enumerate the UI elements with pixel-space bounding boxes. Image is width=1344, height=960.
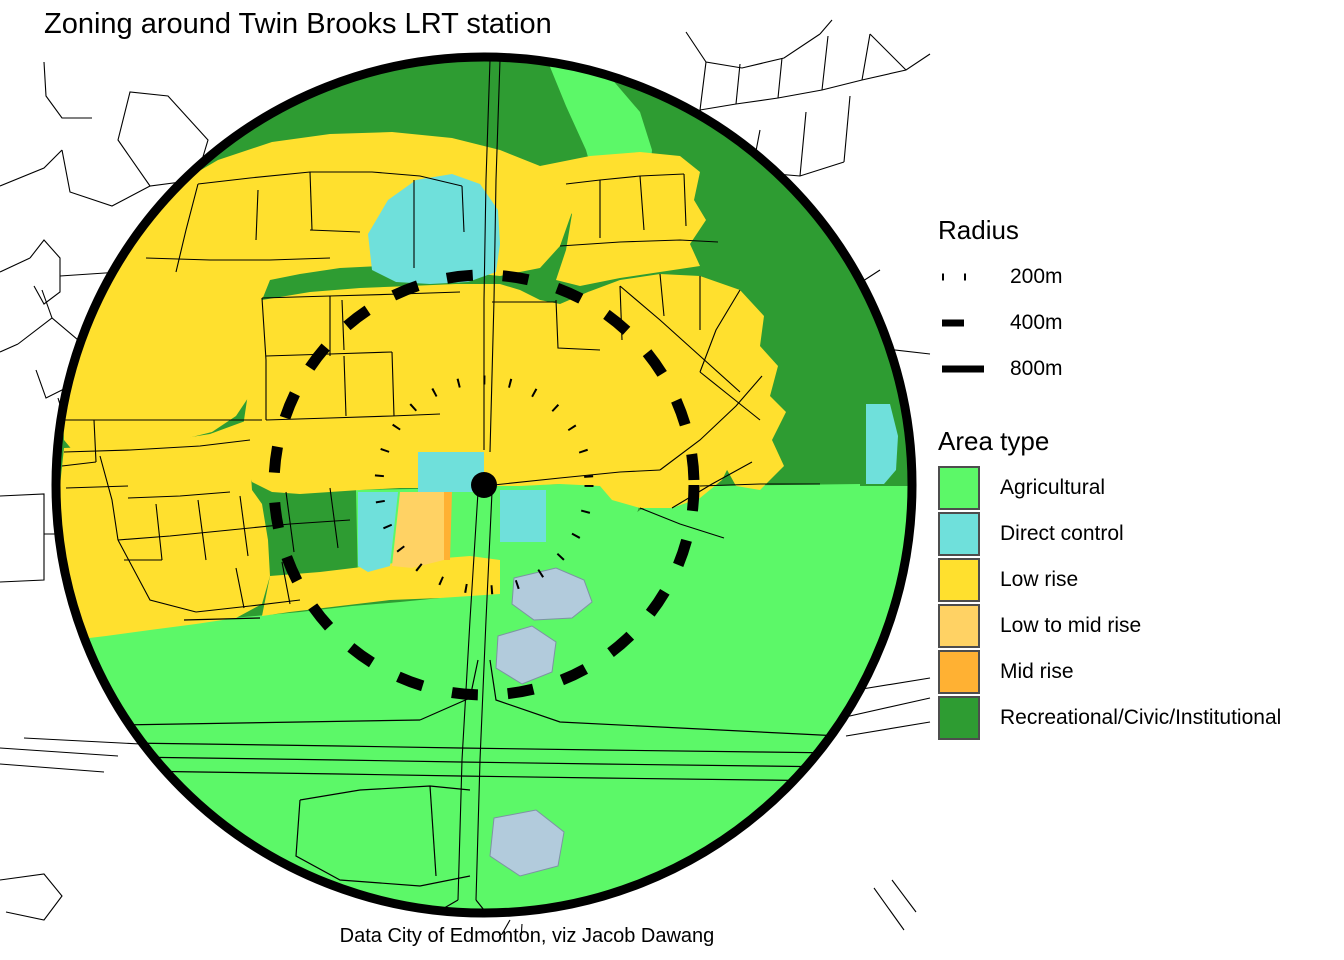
legend-radius-label-800m: 800m bbox=[1010, 357, 1063, 381]
legend-radius-label-200m: 200m bbox=[1010, 265, 1063, 289]
legend-area-label-agricultural: Agricultural bbox=[1000, 476, 1105, 500]
page-root: Zoning around Twin Brooks LRT station bbox=[0, 0, 1344, 960]
dashed-line-icon bbox=[938, 312, 988, 334]
legend-radius-item-800m[interactable]: 800m bbox=[938, 346, 1344, 392]
swatch-low-to-mid-rise bbox=[938, 604, 980, 648]
legend-radius-label-400m: 400m bbox=[1010, 311, 1063, 335]
legend-area-item-mid-rise[interactable]: Mid rise bbox=[938, 649, 1344, 695]
swatch-mid-rise bbox=[938, 650, 980, 694]
map-legend: Radius 200m 400m 800m bbox=[930, 215, 1344, 741]
zoning-map-svg[interactable] bbox=[0, 0, 960, 935]
legend-area-item-direct-control[interactable]: Direct control bbox=[938, 511, 1344, 557]
dotted-line-icon bbox=[938, 266, 988, 288]
legend-radius-item-400m[interactable]: 400m bbox=[938, 300, 1344, 346]
legend-area-item-low-to-mid-rise[interactable]: Low to mid rise bbox=[938, 603, 1344, 649]
legend-area-item-low-rise[interactable]: Low rise bbox=[938, 557, 1344, 603]
legend-area-label-low-to-mid-rise: Low to mid rise bbox=[1000, 614, 1141, 638]
legend-area-type-heading: Area type bbox=[938, 426, 1344, 457]
legend-area-label-low-rise: Low rise bbox=[1000, 568, 1078, 592]
source-caption-text: Data City of Edmonton, viz Jacob Dawang bbox=[340, 925, 715, 948]
legend-area-item-recreational[interactable]: Recreational/Civic/Institutional bbox=[938, 695, 1344, 741]
legend-area-item-agricultural[interactable]: Agricultural bbox=[938, 465, 1344, 511]
source-caption: Data City of Edmonton, viz Jacob Dawang bbox=[0, 925, 1344, 948]
solid-line-icon bbox=[938, 358, 988, 380]
swatch-low-rise bbox=[938, 558, 980, 602]
swatch-recreational bbox=[938, 696, 980, 740]
swatch-agricultural bbox=[938, 466, 980, 510]
legend-radius-heading: Radius bbox=[938, 215, 1344, 246]
swatch-direct-control bbox=[938, 512, 980, 556]
map-canvas[interactable] bbox=[0, 0, 930, 930]
legend-radius-item-200m[interactable]: 200m bbox=[938, 254, 1344, 300]
map-zones bbox=[0, 0, 960, 935]
legend-area-label-recreational: Recreational/Civic/Institutional bbox=[1000, 706, 1281, 730]
zone-low-to-mid-rise bbox=[392, 492, 444, 568]
zone-agricultural-east-strip bbox=[700, 484, 860, 522]
station-marker[interactable] bbox=[471, 472, 497, 498]
legend-area-label-mid-rise: Mid rise bbox=[1000, 660, 1074, 684]
legend-area-label-direct-control: Direct control bbox=[1000, 522, 1124, 546]
zone-direct-control-east bbox=[500, 490, 546, 542]
